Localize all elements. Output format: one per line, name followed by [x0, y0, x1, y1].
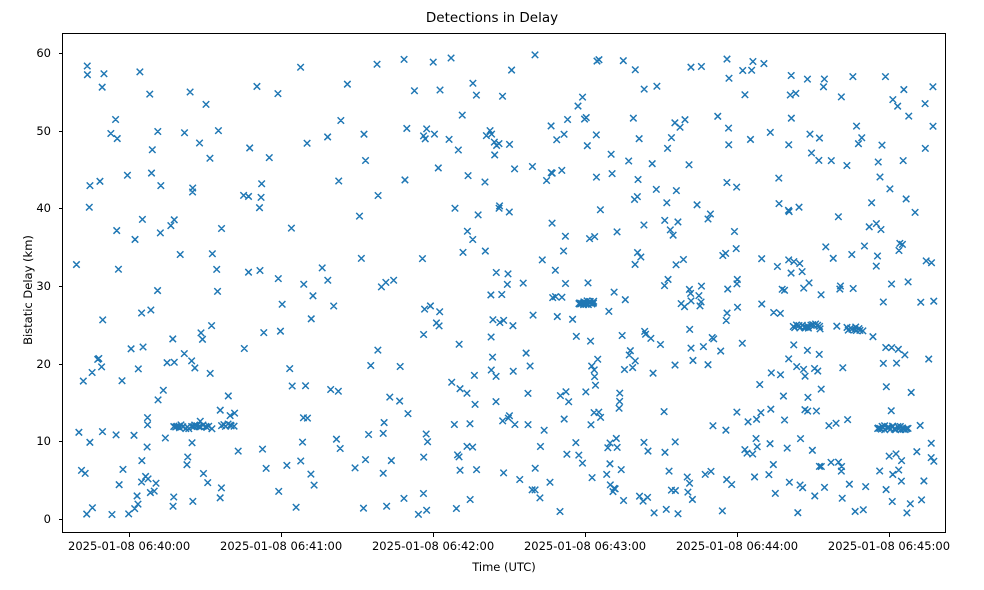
x-tick-label: 2025-01-08 06:41:00 [220, 539, 342, 553]
y-tick-label: 30 [36, 279, 51, 293]
y-tick-mark [59, 208, 63, 209]
y-tick-label: 10 [36, 434, 51, 448]
y-tick-label: 50 [36, 124, 51, 138]
y-tick-label: 40 [36, 201, 51, 215]
scatter-markers [73, 52, 937, 518]
x-tick-label: 2025-01-08 06:44:00 [676, 539, 798, 553]
x-tick-mark [433, 533, 434, 537]
y-tick-mark [59, 519, 63, 520]
chart-title: Detections in Delay [0, 10, 984, 26]
y-tick-label: 60 [36, 46, 51, 60]
x-tick-label: 2025-01-08 06:45:00 [828, 539, 950, 553]
x-tick-mark [737, 533, 738, 537]
y-tick-mark [59, 131, 63, 132]
x-tick-mark [281, 533, 282, 537]
x-tick-mark [585, 533, 586, 537]
y-tick-label: 0 [44, 512, 51, 526]
x-tick-label: 2025-01-08 06:40:00 [68, 539, 190, 553]
x-tick-label: 2025-01-08 06:43:00 [524, 539, 646, 553]
plot-area [62, 33, 946, 533]
y-tick-mark [59, 441, 63, 442]
y-tick-label: 20 [36, 357, 51, 371]
y-tick-mark [59, 364, 63, 365]
y-tick-mark [59, 53, 63, 54]
x-tick-mark [129, 533, 130, 537]
y-axis-label: Bistatic Delay (km) [21, 165, 35, 415]
scatter-series [63, 34, 946, 533]
x-tick-mark [889, 533, 890, 537]
y-tick-mark [59, 286, 63, 287]
x-axis-label: Time (UTC) [62, 560, 946, 574]
x-tick-label: 2025-01-08 06:42:00 [372, 539, 494, 553]
matplotlib-figure: Detections in Delay 2025-01-08 06:40:002… [0, 0, 984, 590]
